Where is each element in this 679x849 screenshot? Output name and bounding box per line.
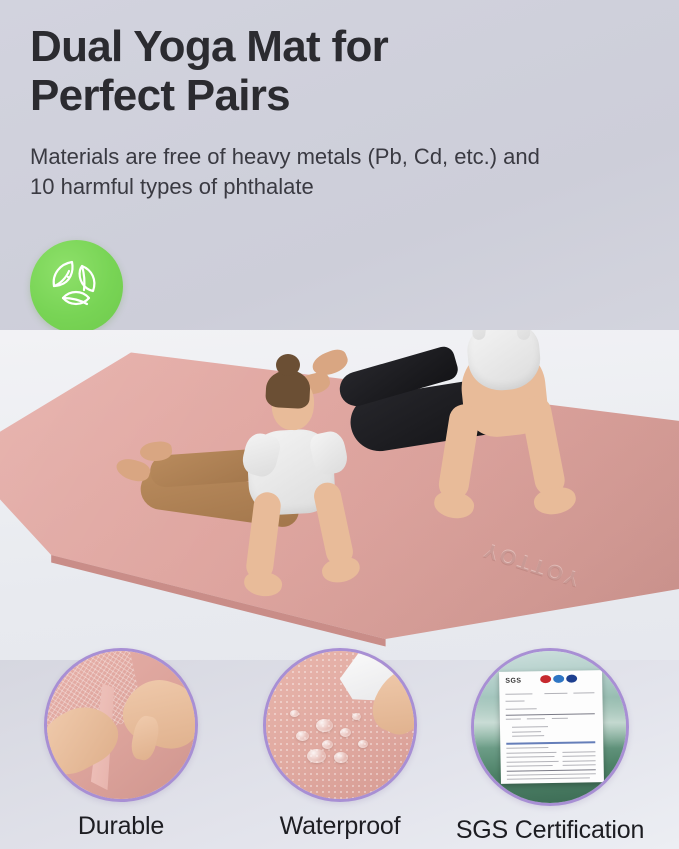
feature-caption: SGS Certification: [455, 816, 645, 845]
doc-table-row: [506, 752, 556, 754]
eco-friendly-badge: [30, 240, 123, 333]
sgs-logo: SGS: [505, 677, 521, 684]
product-feature-image: Dual Yoga Mat for Perfect Pairs Material…: [0, 0, 679, 849]
doc-footnote: [507, 773, 596, 776]
doc-text-line: [512, 735, 544, 737]
three-leaves-eco-icon: [30, 240, 123, 333]
doc-section-heading: [506, 741, 595, 745]
feature-caption: Durable: [26, 812, 216, 841]
badge-blue-icon: [553, 675, 564, 683]
doc-table-row: [562, 751, 595, 753]
doc-table-row: [507, 765, 552, 767]
doc-text-line: [512, 731, 541, 733]
water-droplet: [340, 728, 351, 737]
doc-text-line: [506, 700, 525, 701]
water-droplet: [322, 740, 333, 749]
doc-table-row: [562, 760, 595, 762]
badge-red-icon: [540, 675, 551, 683]
water-droplet: [307, 749, 326, 763]
page-title: Dual Yoga Mat for Perfect Pairs: [30, 22, 630, 121]
doc-text-line: [512, 726, 547, 728]
feature-waterproof: Waterproof: [245, 648, 435, 841]
feature-durable-image: [44, 648, 198, 802]
feature-row: Durable Waterproof: [0, 648, 679, 849]
doc-text-line: [506, 719, 520, 720]
water-droplet: [296, 731, 309, 741]
doc-table-row: [562, 755, 595, 757]
hero-photo: YOTTOY: [0, 330, 679, 660]
doc-text-line: [574, 692, 595, 693]
feature-waterproof-image: [263, 648, 417, 802]
doc-divider: [507, 769, 596, 772]
feature-caption: Waterproof: [245, 812, 435, 841]
doc-text-line: [506, 708, 537, 710]
feature-sgs-image: SGS: [471, 648, 629, 806]
certification-badges: [540, 675, 577, 684]
page-subtitle: Materials are free of heavy metals (Pb, …: [30, 142, 640, 202]
doc-divider: [506, 713, 595, 716]
feature-durable: Durable: [26, 648, 216, 841]
feature-sgs: SGS: [455, 648, 645, 845]
doc-text-line: [506, 747, 547, 749]
doc-table-row: [507, 761, 559, 763]
test-report-document: SGS: [499, 670, 604, 784]
doc-text-line: [505, 694, 532, 695]
water-droplet: [290, 710, 299, 717]
doc-table-row: [563, 764, 596, 766]
girl-hair-bun: [276, 354, 300, 376]
doc-text-line: [545, 693, 568, 694]
doc-table-row: [507, 756, 555, 758]
doc-text-line: [551, 718, 568, 719]
doc-text-line: [527, 718, 546, 719]
water-droplet: [352, 713, 361, 720]
badge-navy-icon: [566, 675, 577, 683]
water-droplet: [358, 740, 368, 748]
water-droplet: [334, 752, 348, 763]
doc-footnote: [507, 777, 590, 779]
